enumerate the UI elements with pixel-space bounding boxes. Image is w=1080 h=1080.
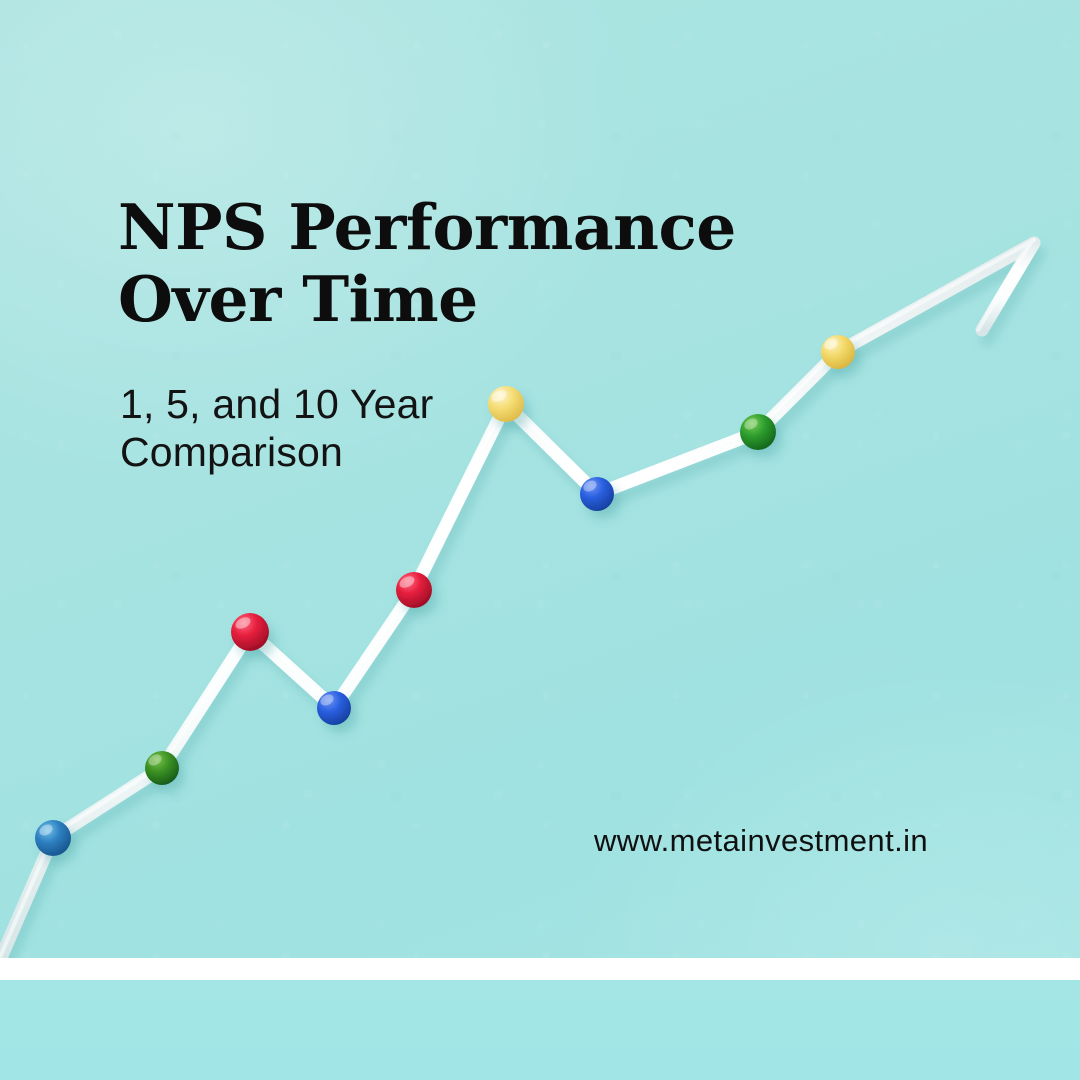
page-subtitle: 1, 5, and 10 Year Comparison [120,380,818,477]
chart-marker-red-1 [231,613,269,651]
white-divider-stripe [0,958,1080,980]
chart-marker-red-2 [396,572,432,608]
chart-marker-blue-1 [317,691,351,725]
poster-canvas: NPS Performance Over Time 1, 5, and 10 Y… [0,0,1080,1080]
line-chart [0,0,1080,1080]
chart-marker-green-1 [145,751,179,785]
bottom-band [0,980,1080,1080]
website-url[interactable]: www.metainvestment.in [594,823,928,859]
page-title: NPS Performance Over Time [118,192,818,336]
chart-marker-blue-teal [35,820,71,856]
chart-marker-blue-2 [580,477,614,511]
chart-marker-yellow-2 [821,335,855,369]
heading-block: NPS Performance Over Time 1, 5, and 10 Y… [118,192,818,476]
